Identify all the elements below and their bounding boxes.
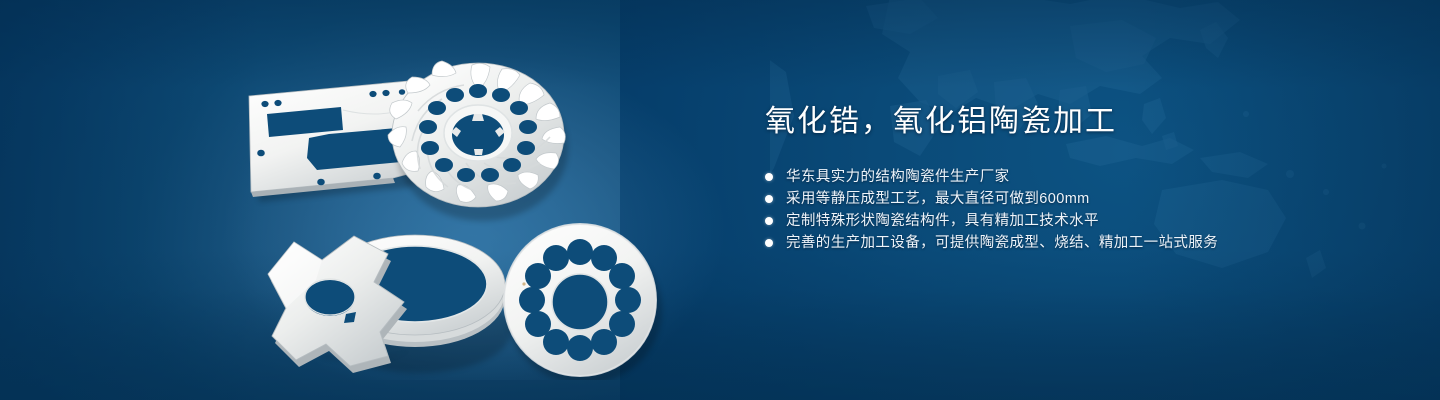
bullet-dot-icon (765, 217, 773, 225)
feature-item: 华东具实力的结构陶瓷件生产厂家 (765, 166, 1385, 188)
feature-list: 华东具实力的结构陶瓷件生产厂家 采用等静压成型工艺，最大直径可做到600mm 定… (765, 166, 1385, 254)
bullet-dot-icon (765, 173, 773, 181)
feature-text: 采用等静压成型工艺，最大直径可做到600mm (786, 188, 1090, 210)
feature-text: 完善的生产加工设备，可提供陶瓷成型、烧结、精加工一站式服务 (786, 232, 1218, 254)
banner-title: 氧化锆，氧化铝陶瓷加工 (765, 104, 1385, 140)
bullet-dot-icon (765, 239, 773, 247)
ceramic-products-banner: 氧化锆，氧化铝陶瓷加工 华东具实力的结构陶瓷件生产厂家 采用等静压成型工艺，最大… (0, 0, 1440, 400)
banner-copy: 氧化锆，氧化铝陶瓷加工 华东具实力的结构陶瓷件生产厂家 采用等静压成型工艺，最大… (765, 104, 1385, 254)
bullet-dot-icon (765, 195, 773, 203)
feature-item: 定制特殊形状陶瓷结构件，具有精加工技术水平 (765, 210, 1385, 232)
feature-text: 华东具实力的结构陶瓷件生产厂家 (786, 166, 1010, 188)
feature-item: 完善的生产加工设备，可提供陶瓷成型、烧结、精加工一站式服务 (765, 232, 1385, 254)
feature-item: 采用等静压成型工艺，最大直径可做到600mm (765, 188, 1385, 210)
feature-text: 定制特殊形状陶瓷结构件，具有精加工技术水平 (786, 210, 1099, 232)
ceramic-products-group (225, 30, 725, 380)
